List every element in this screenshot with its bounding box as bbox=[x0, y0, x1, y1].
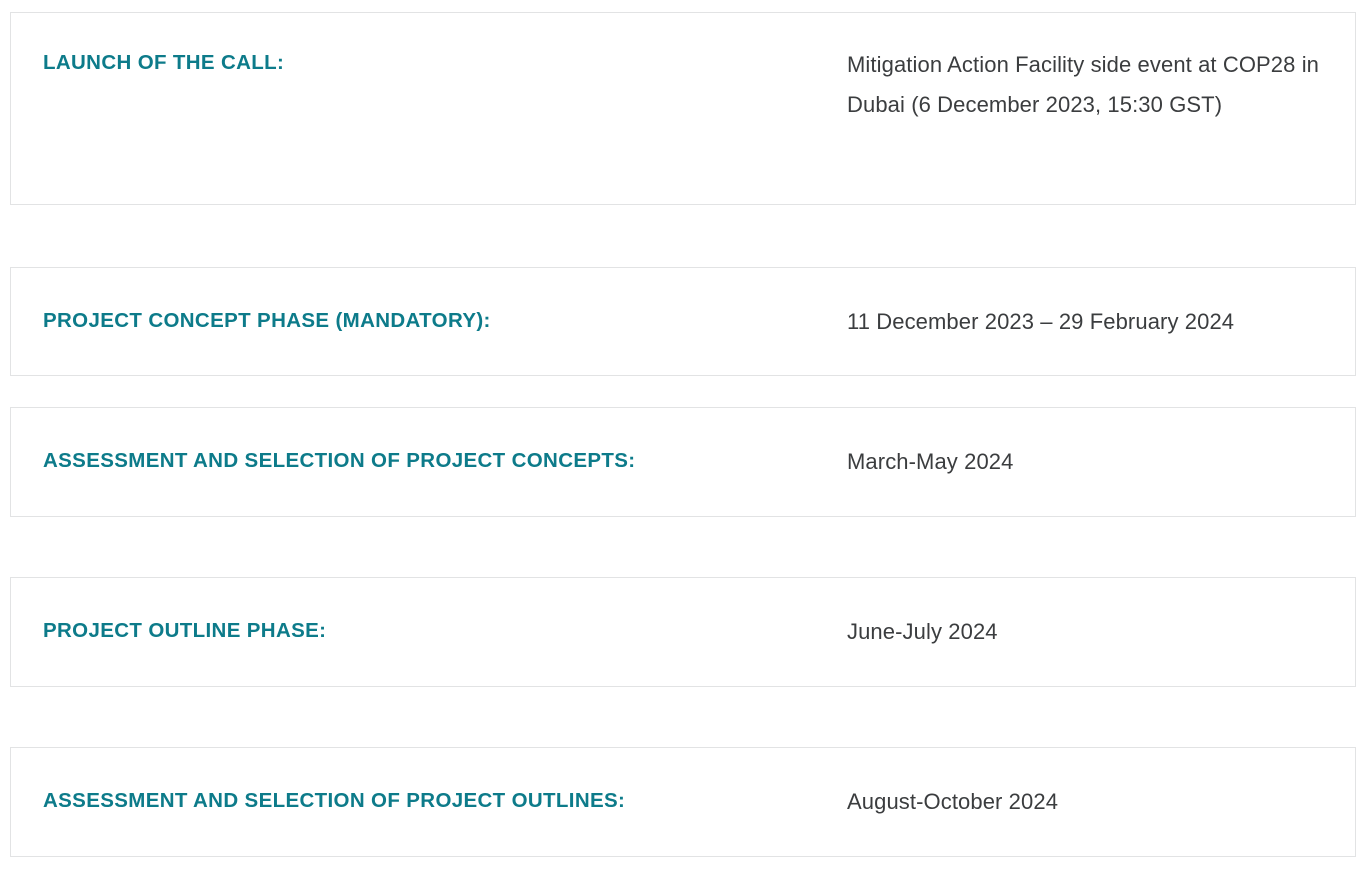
timeline-phase-value-cell: June-July 2024 bbox=[847, 578, 1355, 652]
call-timeline: Launch of the call: Mitigation Action Fa… bbox=[0, 0, 1366, 870]
timeline-phase-label-cell: Project concept phase (mandatory): bbox=[11, 268, 847, 334]
timeline-phase-label: Project concept phase (mandatory): bbox=[43, 308, 491, 334]
timeline-phase-label-cell: Assessment and selection of project conc… bbox=[11, 408, 847, 474]
timeline-phase-value-cell: March-May 2024 bbox=[847, 408, 1355, 482]
timeline-phase-label-cell: Launch of the call: bbox=[11, 13, 847, 76]
table-row: Project concept phase (mandatory): 11 De… bbox=[10, 267, 1356, 376]
timeline-phase-value: March-May 2024 bbox=[847, 442, 1013, 482]
timeline-phase-label: Project outline phase: bbox=[43, 618, 326, 644]
table-row: Launch of the call: Mitigation Action Fa… bbox=[10, 12, 1356, 205]
timeline-phase-value-cell: Mitigation Action Facility side event at… bbox=[847, 13, 1355, 125]
timeline-phase-label-cell: Project outline phase: bbox=[11, 578, 847, 644]
timeline-phase-value: August-October 2024 bbox=[847, 782, 1058, 822]
timeline-phase-value-cell: August-October 2024 bbox=[847, 748, 1355, 822]
timeline-phase-value-cell: 11 December 2023 – 29 February 2024 bbox=[847, 268, 1355, 342]
timeline-phase-label: Assessment and selection of project conc… bbox=[43, 448, 635, 474]
timeline-phase-value: June-July 2024 bbox=[847, 612, 998, 652]
timeline-phase-label: Launch of the call: bbox=[43, 50, 284, 76]
timeline-phase-value: 11 December 2023 – 29 February 2024 bbox=[847, 302, 1234, 342]
timeline-phase-label-cell: Assessment and selection of project outl… bbox=[11, 748, 847, 814]
table-row: Project outline phase: June-July 2024 bbox=[10, 577, 1356, 687]
table-row: Assessment and selection of project conc… bbox=[10, 407, 1356, 517]
table-row: Assessment and selection of project outl… bbox=[10, 747, 1356, 857]
timeline-phase-label: Assessment and selection of project outl… bbox=[43, 788, 625, 814]
timeline-phase-value: Mitigation Action Facility side event at… bbox=[847, 45, 1335, 125]
